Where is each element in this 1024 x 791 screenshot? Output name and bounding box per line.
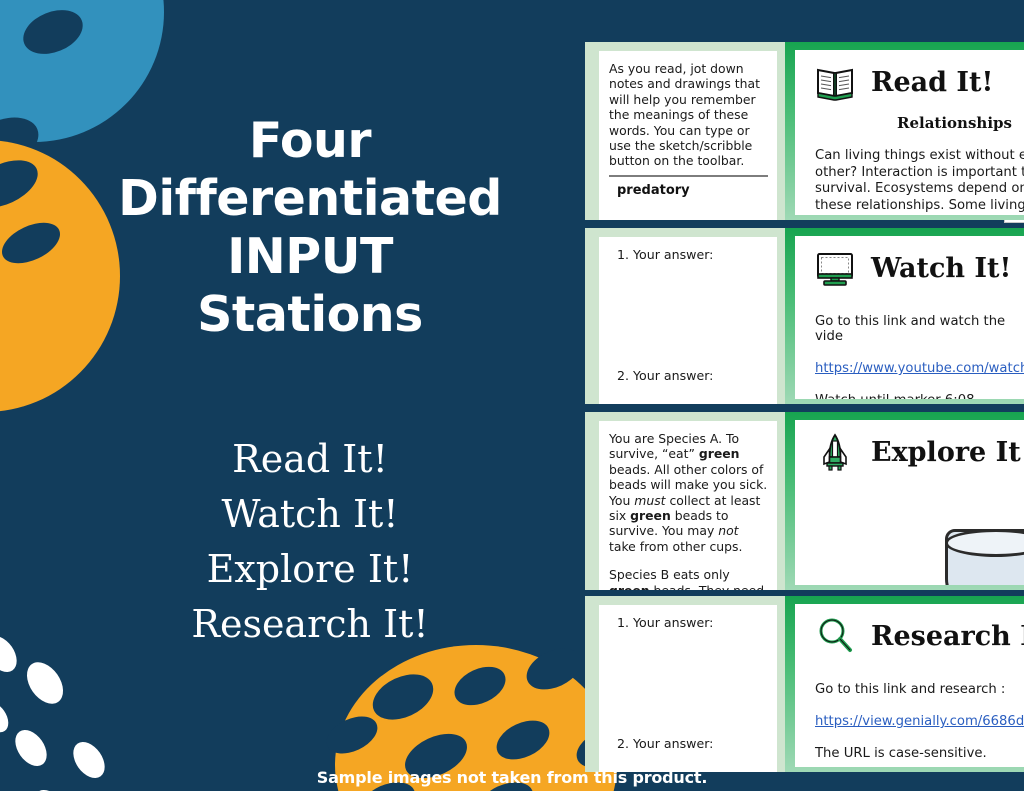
headline-line-4: Stations — [197, 286, 423, 343]
research-answer-1: 1. Your answer: — [609, 615, 768, 630]
read-notes-panel: As you read, jot down notes and drawings… — [585, 42, 785, 220]
watch-answer-2: 2. Your answer: — [609, 368, 768, 383]
read-body-text: Can living things exist without ea other… — [815, 148, 1024, 215]
read-notes-prompt: As you read, jot down notes and drawings… — [609, 61, 768, 169]
page-title: Four Differentiated INPUT Stations — [60, 112, 560, 344]
station-list-item-read: Read It! — [60, 432, 560, 487]
card-row-explore: You are Species A. To survive, “eat” gre… — [585, 412, 1024, 590]
research-it-card: Research It! Go to this link and researc… — [785, 596, 1024, 772]
explore-p1-b: green — [699, 446, 740, 461]
station-list-item-research: Research It! — [60, 597, 560, 652]
research-intro-text: Go to this link and research : — [815, 682, 1024, 697]
headline-line-2: Differentiated — [118, 170, 502, 227]
explore-p2-b: green — [609, 583, 650, 590]
watch-it-card: Watch It! Go to this link and watch the … — [785, 228, 1024, 404]
read-body-line-3: survival. Ecosystems depend on — [815, 181, 1024, 198]
read-it-card: Read It! Relationships Can living things… — [785, 42, 1024, 220]
station-list-item-watch: Watch It! — [60, 487, 560, 542]
read-body-line-2: other? Interaction is important to — [815, 165, 1024, 182]
explore-p2-a: Species B eats only — [609, 567, 730, 582]
explore-it-title: Explore It! — [871, 437, 1024, 468]
explore-paragraph-2: Species B eats only green beads. They ne… — [609, 567, 768, 590]
white-dots-decoration — [0, 630, 190, 791]
rocket-icon — [815, 432, 855, 472]
explore-scenario-panel: You are Species A. To survive, “eat” gre… — [585, 412, 785, 590]
card-row-read: As you read, jot down notes and drawings… — [585, 42, 1024, 220]
station-list-item-explore: Explore It! — [60, 542, 560, 597]
read-it-title: Read It! — [871, 67, 993, 98]
card-row-watch: 1. Your answer: 2. Your answer: — [585, 228, 1024, 404]
explore-p1-f: green — [630, 508, 671, 523]
read-body-line-1: Can living things exist without ea — [815, 148, 1024, 165]
station-list: Read It! Watch It! Explore It! Research … — [60, 432, 560, 652]
research-answer-2: 2. Your answer: — [609, 736, 768, 751]
disclaimer-caption: Sample images not taken from this produc… — [0, 768, 1024, 787]
poster-canvas: Four Differentiated INPUT Stations Read … — [0, 0, 1024, 791]
research-link[interactable]: https://view.genially.com/6686d — [815, 714, 1024, 729]
explore-scenario-text: You are Species A. To survive, “eat” gre… — [609, 431, 768, 590]
watch-answer-1: 1. Your answer: — [609, 247, 768, 262]
vocab-word: predatory — [609, 177, 768, 198]
watch-it-title: Watch It! — [871, 253, 1011, 284]
open-book-icon — [815, 62, 855, 102]
explore-it-card: Explore It! — [785, 412, 1024, 590]
sample-screenshots-grid: As you read, jot down notes and drawings… — [585, 0, 1024, 791]
research-it-title: Research It! — [871, 621, 1024, 652]
explore-p1-d: must — [634, 493, 665, 508]
watch-answers-panel: 1. Your answer: 2. Your answer: — [585, 228, 785, 404]
card-row-research: 1. Your answer: 2. Your answer: — [585, 596, 1024, 772]
monitor-icon — [815, 248, 855, 288]
research-answers-panel: 1. Your answer: 2. Your answer: — [585, 596, 785, 772]
headline-line-3: INPUT — [227, 228, 393, 285]
explore-p1-h: not — [718, 523, 738, 538]
explore-p1-i: take from other cups. — [609, 539, 742, 554]
research-outro-text: The URL is case-sensitive. — [815, 746, 1024, 761]
watch-video-link[interactable]: https://www.youtube.com/watch — [815, 361, 1024, 376]
read-section-heading: Relationships — [815, 114, 1024, 132]
magnifier-icon — [815, 616, 855, 656]
cup-icon — [945, 529, 1024, 585]
explore-paragraph-1: You are Species A. To survive, “eat” gre… — [609, 431, 768, 554]
read-body-line-5: things must depend on others for — [815, 214, 1024, 215]
watch-intro-text: Go to this link and watch the vide — [815, 314, 1024, 344]
headline-line-1: Four — [249, 112, 371, 169]
read-body-line-4: these relationships. Some living — [815, 198, 1024, 215]
watch-outro-text: Watch until marker 6:08. — [815, 393, 1024, 399]
explore-p2-c: beads. They need — [650, 583, 765, 590]
